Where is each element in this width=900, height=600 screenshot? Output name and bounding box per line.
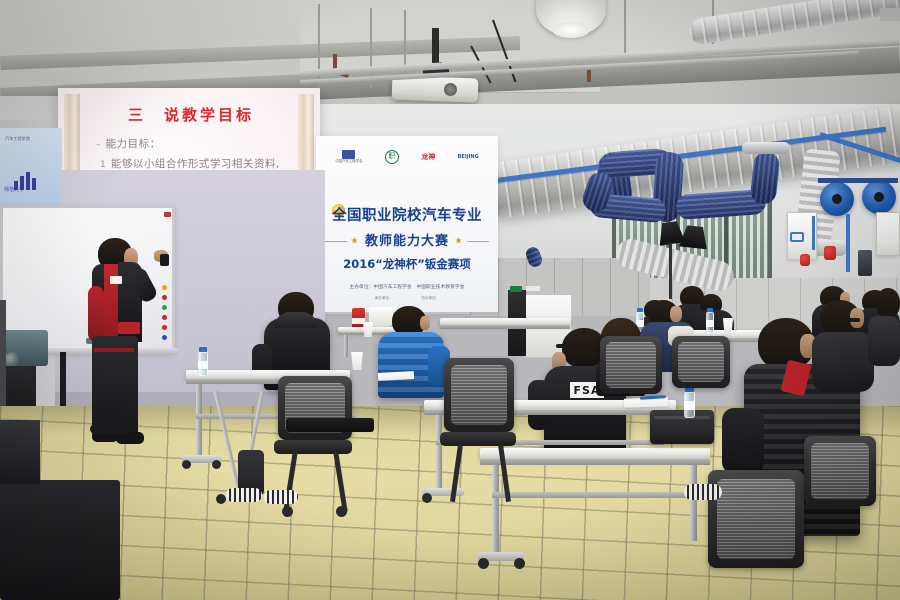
- attendee-shoe: [264, 490, 298, 504]
- mid-desk-leg: [196, 384, 202, 458]
- bottle-label: [684, 401, 695, 410]
- chair-backrest[interactable]: [804, 436, 876, 506]
- chair-seat[interactable]: [440, 432, 516, 446]
- container-label: [352, 318, 365, 324]
- paper-cup[interactable]: [350, 352, 364, 370]
- foreground-equipment: [0, 480, 120, 600]
- slide-bullet-dash: –: [96, 140, 101, 150]
- wall-device: [858, 250, 872, 276]
- blue-pipe-vertical: [812, 216, 815, 250]
- banner-line-2: ★ 教师能力大赛 ★: [316, 230, 498, 249]
- attendee-shoe: [684, 484, 722, 500]
- attendee-face: [670, 306, 682, 322]
- hose-reel-left: [820, 182, 854, 216]
- presenter-badge: [110, 276, 122, 284]
- presenter-jacket-stripe: [118, 322, 140, 334]
- desk-caster: [514, 558, 525, 569]
- back-table-leg: [344, 335, 348, 357]
- back-desk-edge: [440, 325, 570, 329]
- presenter-pants-stripe: [94, 348, 134, 352]
- slide-title: 三 说教学目标: [96, 104, 286, 125]
- projector-lens: [444, 83, 457, 96]
- blue-brand-logo: BEIJING: [458, 154, 479, 160]
- wall-label: [526, 286, 540, 291]
- slide-item-1: 1 能够以小组合作形式学习相关资料,: [100, 152, 280, 171]
- attendee-head: [876, 288, 900, 318]
- banner-organizer-sub: 承办单位： 协办单位：: [316, 296, 498, 301]
- slide-subtitle: 能力目标：: [106, 138, 161, 150]
- banner-logo-row: 中国汽车工程学会 职 龙神 BEIJING: [324, 148, 490, 166]
- banner-line-1: 全国职业院校汽车专业: [316, 204, 498, 225]
- chair-seat[interactable]: [274, 440, 352, 454]
- wall-poster: 汽车工程学院: [0, 128, 62, 206]
- desk-caster: [422, 493, 432, 503]
- desk-caster: [212, 460, 221, 469]
- whiteboard-magnet[interactable]: [162, 305, 167, 310]
- banner-organizer: 主办单位：中国汽车工程学会 中国职业技术教育学会: [316, 284, 498, 290]
- chair-backrest[interactable]: [672, 336, 730, 388]
- front-desk-leg: [492, 465, 499, 557]
- bag-zipper: [654, 416, 710, 419]
- attendee-arm: [722, 408, 764, 474]
- ceiling-projector: [392, 76, 479, 103]
- foreground-machine-column: [0, 420, 40, 484]
- slide-item-text: 能够以小组合作形式学习相关资料,: [111, 158, 280, 170]
- banner-line-2-text: 教师能力大赛: [365, 234, 449, 249]
- chair-backrest-front[interactable]: [708, 470, 804, 568]
- desk-shelf: [286, 418, 374, 432]
- desk-leg: [436, 415, 442, 493]
- whiteboard-magnet[interactable]: [162, 295, 167, 300]
- slide-item-number: 1: [100, 160, 106, 170]
- china-sae-logo: 中国汽车工程学会: [335, 150, 362, 164]
- bottle-label: [706, 320, 714, 327]
- electrical-cabinet-right: [876, 212, 900, 256]
- attendee-body: [812, 332, 874, 392]
- presenter-arm: [88, 286, 104, 342]
- whiteboard-magnet[interactable]: [162, 335, 167, 340]
- desk-rail: [492, 492, 698, 498]
- classroom-photo: 三 说教学目标 – 能力目标： 1 能够以小组合作形式学习相关资料, 并完成工作…: [0, 0, 900, 600]
- whiteboard-clip: [164, 212, 171, 217]
- hose-reel-right: [862, 180, 896, 214]
- banner-line-3: 2016“龙神杯”钣金赛项: [316, 256, 498, 272]
- eyeglasses-icon: [556, 344, 572, 348]
- fume-extractor-flange: [742, 142, 790, 154]
- fume-arm-support: [669, 243, 672, 299]
- hose-reel-rail: [818, 178, 898, 183]
- banner-rule: [325, 241, 347, 242]
- whiteboard-magnet[interactable]: [162, 315, 167, 320]
- chair-backrest[interactable]: [600, 336, 662, 394]
- chair-backrest[interactable]: [444, 358, 514, 432]
- desk-caster: [182, 460, 191, 469]
- blue-pipe-vertical: [846, 214, 850, 272]
- presenter-remote[interactable]: [160, 254, 169, 266]
- whiteboard-magnet[interactable]: [162, 325, 167, 330]
- green-circle-logo: 职: [385, 150, 399, 164]
- floor-shadow-shoe: [90, 424, 130, 434]
- attendee-shoe: [226, 488, 262, 502]
- chair-caster: [282, 506, 293, 517]
- desk-caster: [478, 558, 489, 569]
- front-desk-top: [480, 448, 710, 459]
- event-banner: 中国汽车工程学会 职 龙神 BEIJING 全国职业院校汽车专业 ★ 教师能力大…: [316, 136, 498, 312]
- hoodie-hood: [274, 312, 318, 328]
- whiteboard-magnet[interactable]: [162, 285, 167, 290]
- banner-rule: [467, 241, 489, 242]
- bottle-cap: [199, 347, 207, 352]
- slide-subtitle-row: – 能力目标：: [96, 132, 161, 151]
- chair-caster: [336, 506, 347, 517]
- bottle-cap: [707, 308, 713, 312]
- back-desk-top: [440, 318, 570, 325]
- red-valve: [824, 246, 836, 260]
- bottle-cap: [637, 308, 643, 312]
- bottle-label: [198, 361, 208, 369]
- ceiling-hanger-rod: [624, 0, 626, 60]
- desk-caster: [216, 494, 226, 504]
- dome-light-lens: [552, 22, 590, 38]
- poster-subtext: 师范大学: [4, 186, 24, 193]
- exit-sign: [510, 286, 522, 292]
- red-brand-logo: 龙神: [421, 152, 435, 162]
- attendee-face: [420, 316, 430, 330]
- wall-gauge: [790, 232, 804, 242]
- banner-star-right: ★: [455, 237, 464, 247]
- poster-caption: 汽车工程学院: [5, 136, 30, 142]
- eyeglasses-icon: [844, 318, 860, 322]
- banner-star-left: ★: [350, 237, 359, 247]
- front-desk-edge: [480, 459, 710, 465]
- front-desk-leg: [690, 465, 697, 541]
- attendee-body: [868, 316, 900, 366]
- red-valve: [800, 254, 810, 266]
- duct-elbow: [880, 8, 900, 111]
